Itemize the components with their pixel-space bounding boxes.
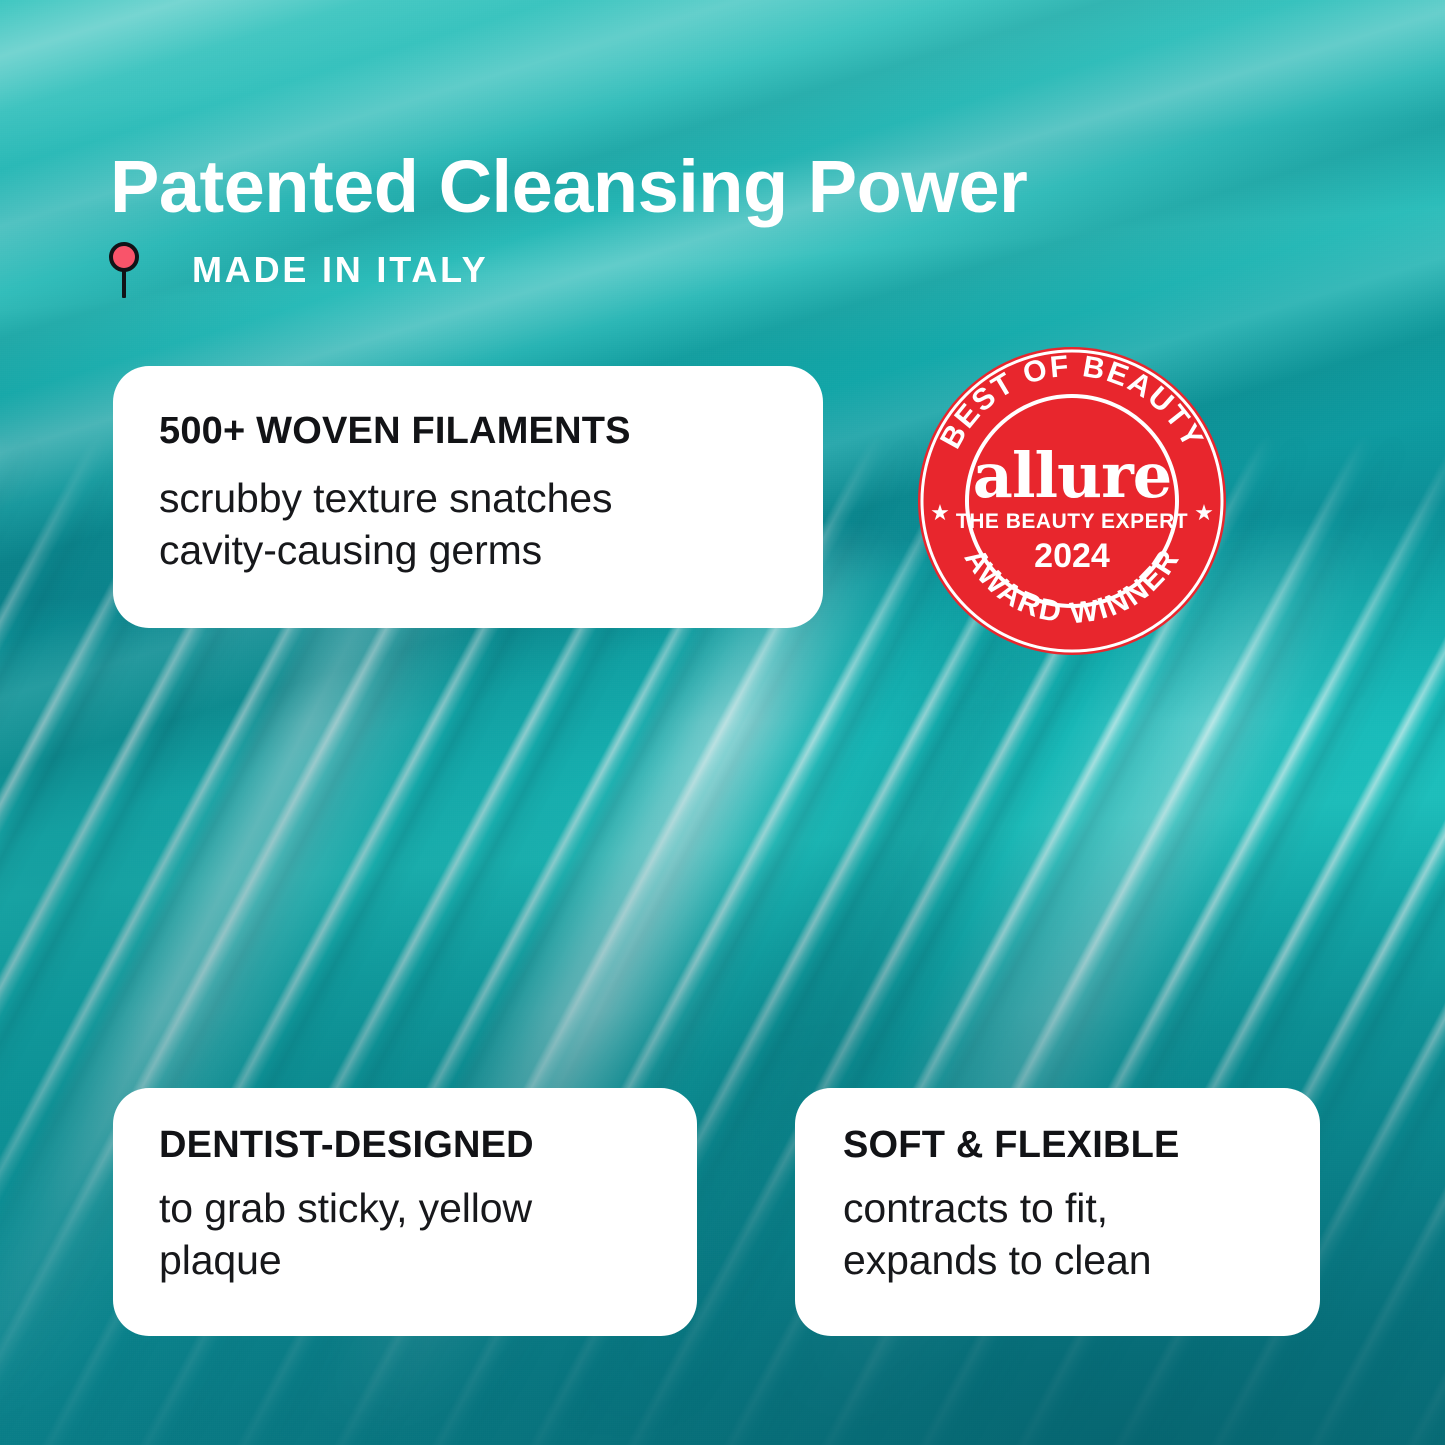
badge-brand-wordmark: allure xyxy=(973,439,1171,512)
feature-card-body: to grab sticky, yellow plaque xyxy=(159,1182,669,1287)
feature-card-body-line: expands to clean xyxy=(843,1234,1292,1286)
feature-card-title: SOFT & FLEXIBLE xyxy=(843,1126,1292,1166)
feature-card-filaments: 500+ WOVEN FILAMENTS scrubby texture sna… xyxy=(113,366,823,628)
allure-award-badge-icon: BEST OF BEAUTY AWARD WINNER ★ ★ allure T… xyxy=(916,345,1228,657)
feature-card-body-line: cavity-causing germs xyxy=(159,524,781,576)
feature-card-title: DENTIST-DESIGNED xyxy=(159,1126,669,1166)
made-in-italy-label: MADE IN ITALY xyxy=(192,249,488,291)
product-feature-graphic: Patented Cleansing Power MADE IN ITALY 5… xyxy=(0,0,1445,1445)
feature-card-body: contracts to fit, expands to clean xyxy=(843,1182,1292,1287)
feature-card-body-line: contracts to fit, xyxy=(843,1182,1292,1234)
feature-card-body-line: to grab sticky, yellow xyxy=(159,1182,669,1234)
made-in-italy-row: MADE IN ITALY xyxy=(108,240,488,300)
feature-card-soft-flexible: SOFT & FLEXIBLE contracts to fit, expand… xyxy=(795,1088,1320,1336)
feature-card-body-line: plaque xyxy=(159,1234,669,1286)
map-pin-icon xyxy=(108,240,142,300)
page-title: Patented Cleansing Power xyxy=(110,150,1027,224)
feature-card-body-line: scrubby texture snatches xyxy=(159,472,781,524)
badge-year: 2024 xyxy=(1034,537,1110,575)
feature-card-body: scrubby texture snatches cavity-causing … xyxy=(159,472,781,577)
map-pin-stem xyxy=(122,270,126,298)
feature-card-title: 500+ WOVEN FILAMENTS xyxy=(159,412,781,452)
feature-card-dentist-designed: DENTIST-DESIGNED to grab sticky, yellow … xyxy=(113,1088,697,1336)
badge-star-left-icon: ★ xyxy=(930,501,950,526)
badge-star-right-icon: ★ xyxy=(1194,501,1214,526)
badge-tagline: THE BEAUTY EXPERT xyxy=(956,510,1188,533)
map-pin-head xyxy=(109,242,139,272)
